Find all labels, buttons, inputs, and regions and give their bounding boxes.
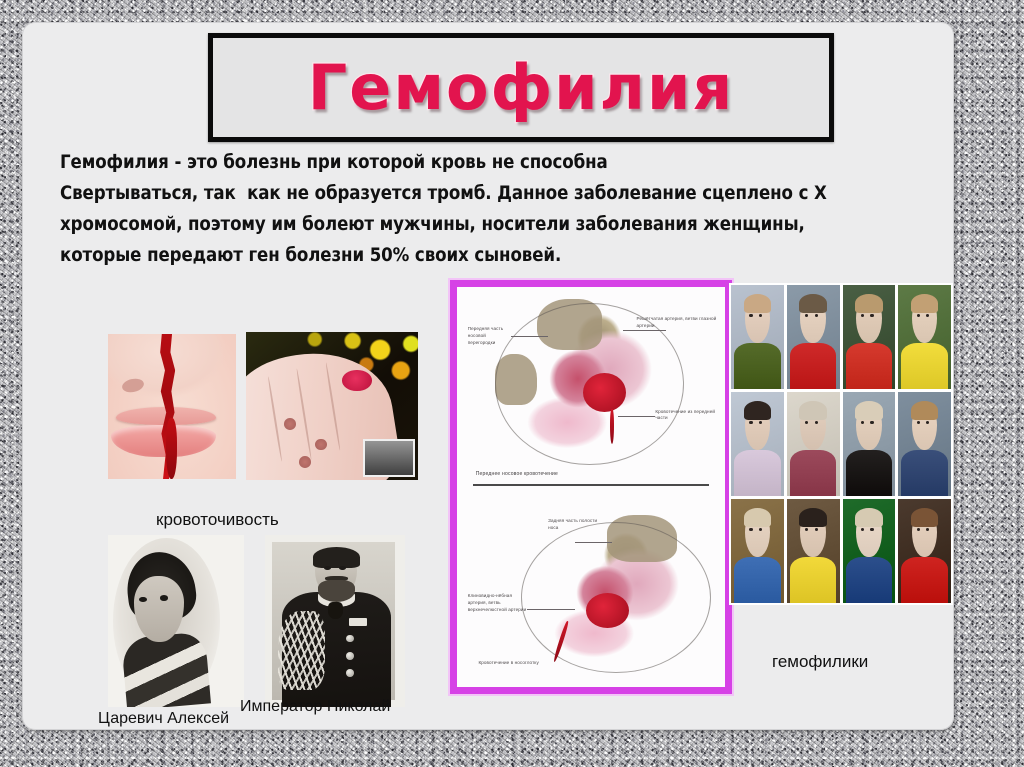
diagram-label: Передняя часть носовой перегородки	[468, 326, 511, 347]
patient-photo-10	[787, 499, 840, 603]
hair-shape	[313, 547, 361, 568]
eye-shape	[870, 528, 873, 531]
uniform-button	[346, 652, 354, 660]
hair-shape	[799, 294, 826, 313]
eye-shape	[324, 566, 331, 570]
patient-photo-1	[731, 285, 784, 389]
clothing-shape	[901, 343, 947, 389]
bruise-spot	[315, 439, 327, 451]
photo-grid-patients	[729, 283, 953, 605]
diagram-nasal-bleeding: Передняя часть носовой перегородки Решёт…	[450, 280, 732, 694]
patient-photo-8	[898, 392, 951, 496]
photo-tsarevich-alexei	[108, 535, 244, 707]
diagram-divider	[473, 484, 709, 486]
hair-shape	[911, 401, 938, 420]
title-box: Гемофилия	[208, 33, 834, 142]
aiguillette-shape	[278, 611, 326, 690]
leader-line	[575, 542, 613, 543]
inset-thumbnail	[363, 439, 415, 477]
clothing-shape	[734, 343, 780, 389]
clothing-shape	[901, 557, 947, 603]
bruise-spot	[284, 418, 296, 430]
beard-shape	[318, 580, 354, 602]
diagram-panel-anterior: Передняя часть носовой перегородки Решёт…	[457, 287, 725, 483]
photo-nosebleed	[108, 334, 236, 479]
hair-shape	[855, 401, 882, 420]
clothing-shape	[846, 343, 892, 389]
uniform-patch	[349, 618, 367, 627]
clothing-shape	[846, 450, 892, 496]
patient-photo-6	[787, 392, 840, 496]
eye-shape	[749, 528, 752, 531]
diagram-label: Решётчатая артерия, ветви глазной артери…	[637, 316, 717, 330]
diagram-label: Кровотечение в носоглотку	[478, 660, 542, 667]
patient-photo-4	[898, 285, 951, 389]
photo-emperor-nicholas	[265, 535, 405, 707]
patient-photo-5	[731, 392, 784, 496]
diagram-label: Задняя часть полости носа	[548, 518, 607, 532]
hair-shape	[911, 294, 938, 313]
blood-drip-shape	[166, 418, 178, 479]
eye-shape	[870, 314, 873, 317]
leader-line	[623, 330, 666, 331]
clothing-shape	[790, 557, 836, 603]
bleeding-site	[586, 593, 629, 628]
patient-photo-12	[898, 499, 951, 603]
caption-nicholas: Император Николай	[240, 698, 390, 716]
patient-photo-11	[843, 499, 896, 603]
patient-photo-9	[731, 499, 784, 603]
body-line-3: хромосомой, поэтому им болеют мужчины, н…	[60, 209, 930, 240]
hair-shape	[744, 294, 771, 313]
photo-fingers-bruising	[246, 332, 418, 480]
eye-shape	[749, 421, 752, 424]
eye-shape	[160, 595, 168, 601]
clothing-shape	[790, 343, 836, 389]
slide-content-panel: Гемофилия Гемофилия - это болезнь при ко…	[22, 22, 954, 730]
clothing-shape	[901, 450, 947, 496]
patient-photo-7	[843, 392, 896, 496]
leader-line	[618, 416, 656, 417]
diagram-caption: Переднее носовое кровотечение	[476, 471, 558, 477]
patient-photo-2	[787, 285, 840, 389]
hair-shape	[799, 508, 826, 527]
body-line-1: Гемофилия - это болезнь при которой кров…	[60, 147, 930, 178]
hair-shape	[799, 401, 826, 420]
body-line-4: которые передают ген болезни 50% своих с…	[60, 240, 930, 271]
leader-line	[511, 336, 549, 337]
caption-nosebleed: кровоточивость	[156, 510, 279, 530]
diagram-label: Кровотечение из передней части	[655, 409, 717, 423]
caption-patients: гемофилики	[772, 652, 868, 672]
patient-photo-3	[843, 285, 896, 389]
bleeding-fingertip	[342, 370, 371, 391]
hair-shape	[744, 508, 771, 527]
clothing-shape	[734, 557, 780, 603]
clothing-shape	[790, 450, 836, 496]
page-title: Гемофилия	[308, 57, 734, 119]
eye-shape	[870, 421, 873, 424]
hair-shape	[855, 508, 882, 527]
hair-shape	[911, 508, 938, 527]
sailor-suit-shape	[121, 631, 211, 707]
clothing-shape	[734, 450, 780, 496]
eye-shape	[749, 314, 752, 317]
diagram-label: Клиновидно-нёбная артерия, ветвь верхнеч…	[468, 593, 532, 614]
body-line-2: Свертываться, так как не образуется тром…	[60, 178, 930, 209]
blood-drip	[610, 409, 614, 444]
diagram-panel-posterior: Задняя часть полости носа Клиновидно-нёб…	[457, 491, 725, 687]
leader-line	[527, 609, 575, 610]
body-paragraph: Гемофилия - это болезнь при которой кров…	[60, 147, 930, 271]
hair-shape	[855, 294, 882, 313]
slide-root: Гемофилия Гемофилия - это болезнь при ко…	[0, 0, 1024, 767]
bleeding-site	[583, 373, 626, 412]
caption-alexei: Царевич Алексей	[98, 710, 229, 728]
clothing-shape	[846, 557, 892, 603]
uniform-button	[346, 669, 354, 677]
hair-shape	[744, 401, 771, 420]
